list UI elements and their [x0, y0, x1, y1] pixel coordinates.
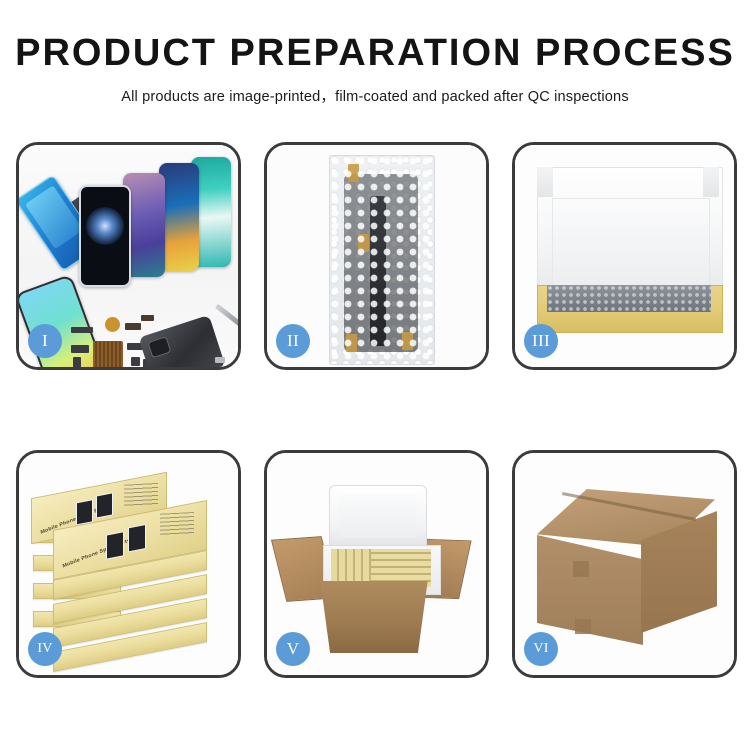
process-step-panel-2[interactable]: II [264, 142, 489, 370]
styrofoam-lid [329, 485, 427, 549]
wrapped-flex-strip [370, 196, 386, 346]
tape-piece-bottom-right [402, 332, 413, 350]
box-print-textblock-rear [124, 483, 158, 507]
step-badge-5: V [276, 632, 310, 666]
part-screw-set [215, 357, 225, 363]
phone-front-glass-panel [79, 185, 131, 287]
process-step-panel-1[interactable]: I [16, 142, 241, 370]
part-battery-connector [71, 327, 93, 333]
styrofoam-lid-inner [339, 494, 417, 538]
phone-notch [95, 188, 115, 193]
white-box-lid-inner [552, 198, 710, 286]
process-step-panel-3[interactable]: III [512, 142, 737, 370]
part-logic-board [93, 341, 123, 369]
step-badge-6: VI [524, 632, 558, 666]
bubble-wrap-bag [329, 155, 435, 365]
page-subtitle: All products are image-printed，film-coat… [0, 85, 750, 106]
tape-piece-bottom-left [346, 334, 357, 352]
box-print-screen-front-1 [106, 531, 124, 559]
step-badge-2: II [276, 324, 310, 358]
carton-tape-patch-upper [573, 561, 589, 577]
box-print-textblock-front [160, 512, 194, 536]
part-bracket-2 [73, 357, 81, 370]
carton-body [313, 581, 435, 653]
process-step-panel-5[interactable]: V [264, 450, 489, 678]
box-flap-right [703, 167, 719, 197]
page-header: PRODUCT PREPARATION PROCESS All products… [0, 0, 750, 106]
white-box-lid [537, 167, 723, 291]
part-gold-coil [105, 317, 120, 332]
box-print-screen-rear-2 [96, 492, 113, 518]
tape-piece-top [348, 164, 359, 182]
process-step-grid: I II III [0, 138, 750, 698]
part-bracket-1 [71, 345, 89, 353]
carton-tape-patch-lower [575, 619, 591, 634]
part-flex-cable-2 [141, 315, 154, 321]
tape-piece-middle [358, 234, 369, 252]
step-badge-3: III [524, 324, 558, 358]
phone-blue-orange-gradient [159, 163, 199, 271]
page-title: PRODUCT PREPARATION PROCESS [0, 34, 750, 74]
bubble-foam-insert [547, 285, 711, 312]
process-step-panel-4[interactable]: Mobile Phone Spare Parts Mobile Phone Sp… [16, 450, 241, 678]
step-badge-1: I [28, 324, 62, 358]
process-step-panel-6[interactable]: VI [512, 450, 737, 678]
box-print-screen-front-2 [128, 524, 146, 552]
part-vibrator-motor [131, 357, 140, 366]
part-flex-cable-1 [125, 323, 141, 330]
step-badge-4: IV [28, 632, 62, 666]
box-flap-left [537, 167, 553, 197]
